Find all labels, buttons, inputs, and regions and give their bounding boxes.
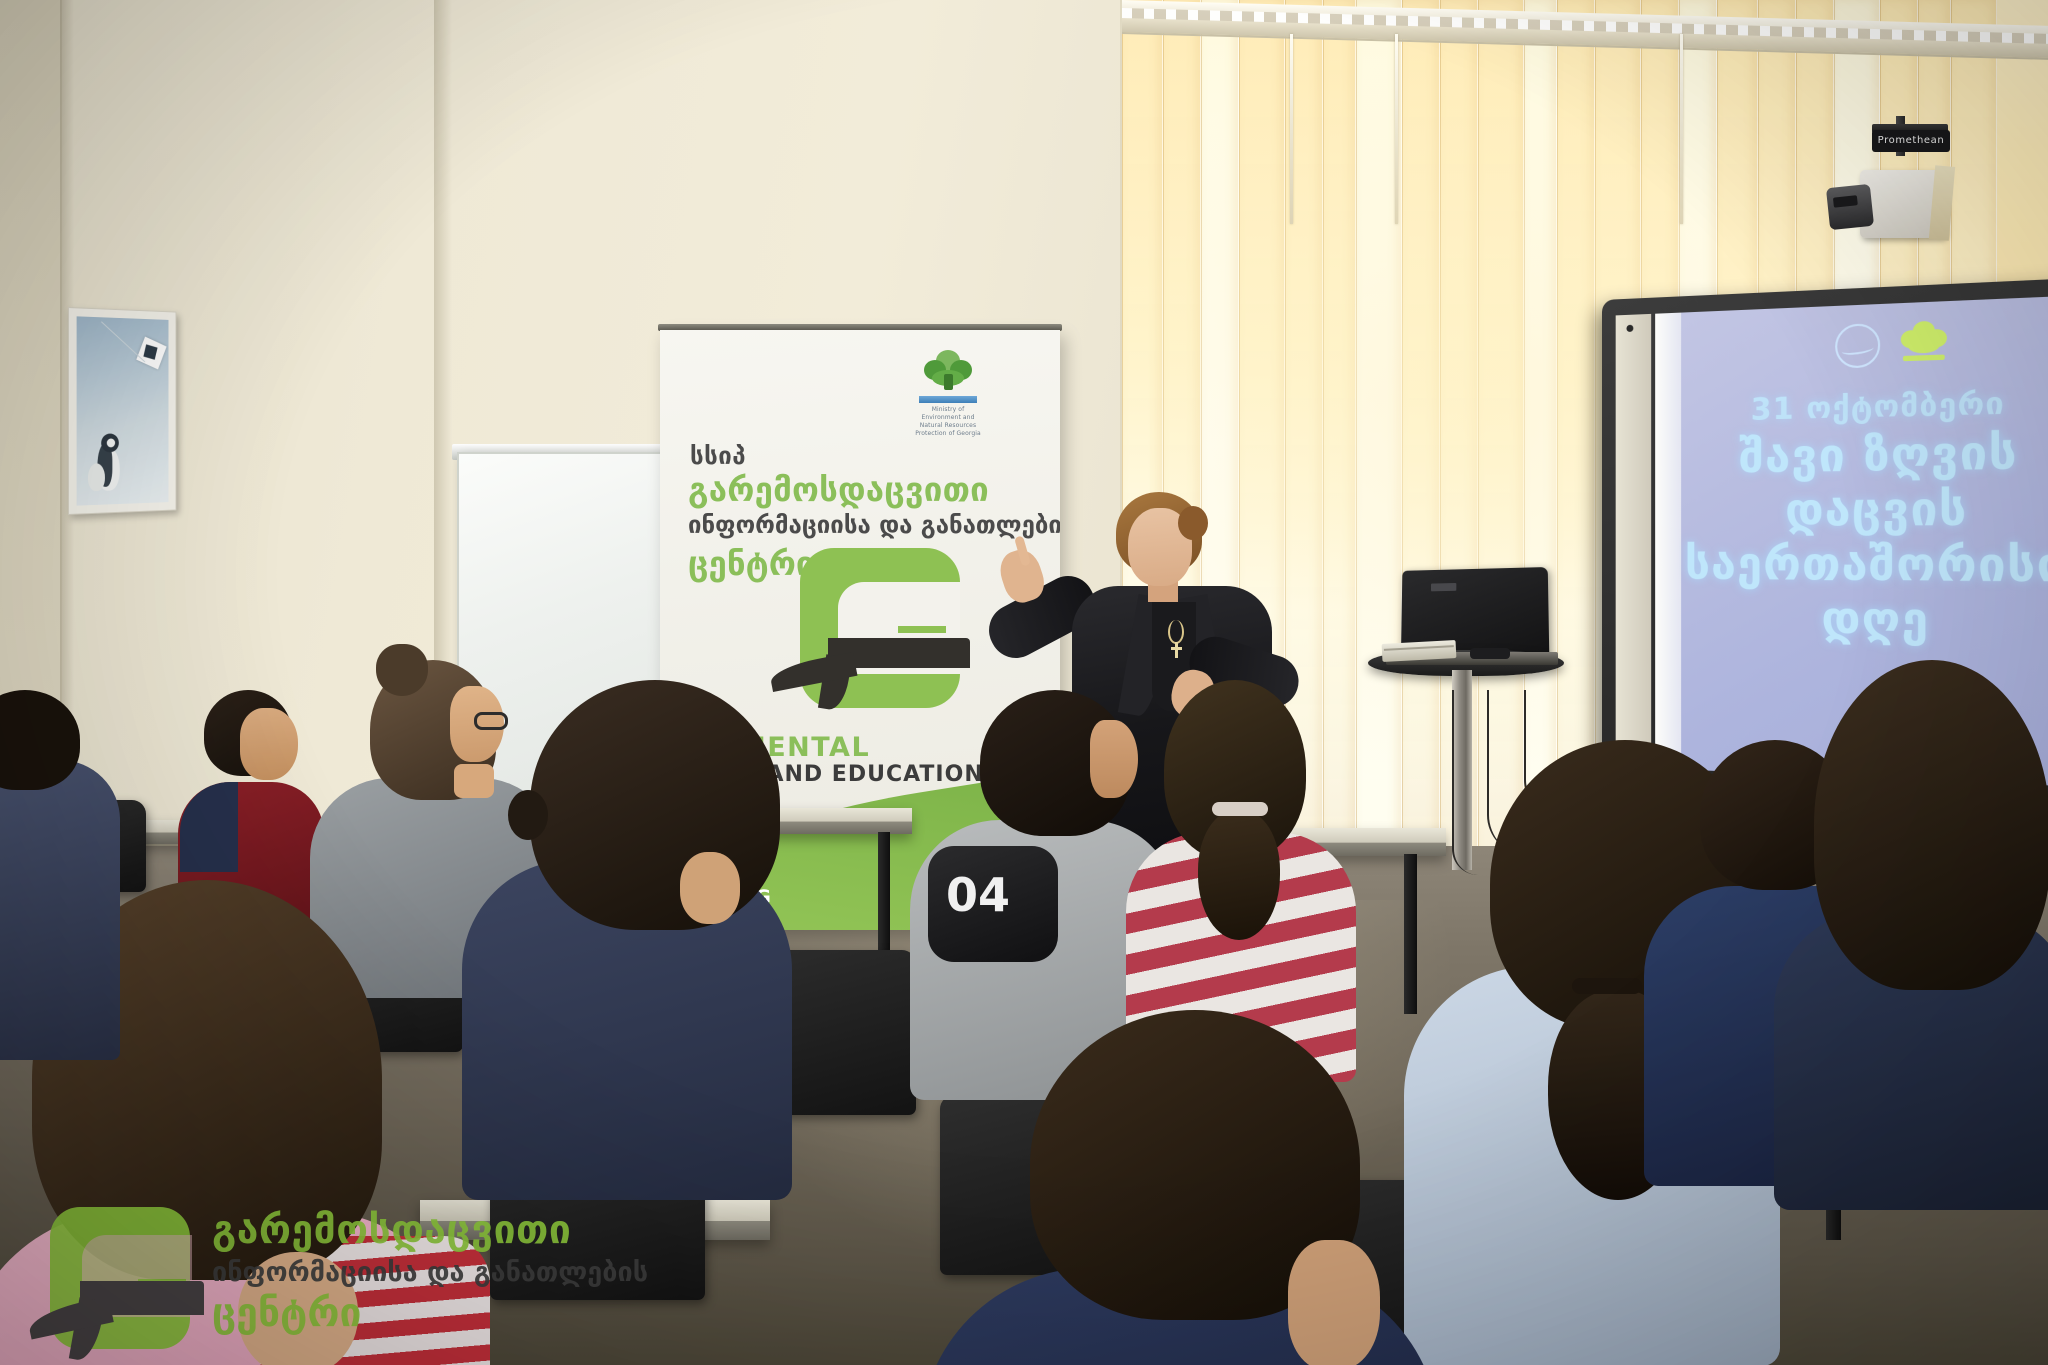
penguin-kite-poster [68, 307, 176, 515]
blind-wand[interactable] [1680, 34, 1683, 224]
blind-wand[interactable] [1290, 34, 1293, 224]
classroom-photo: Ministry of Environment and Natural Reso… [0, 0, 2048, 1365]
ministry-caption: Ministry of Environment and Natural Reso… [913, 406, 983, 438]
poster-image [77, 316, 169, 505]
projector: Promethean [1836, 152, 1956, 248]
projector-brand-label: Promethean [1872, 130, 1950, 152]
ministry-tree-logo: Ministry of Environment and Natural Reso… [913, 350, 983, 428]
slide-text-block: 31 ოქტომბერი შავი ზღვის დაცვის საერთაშორ… [1663, 382, 2048, 652]
hand [454, 764, 494, 798]
banner-line-1: სსიპ [690, 442, 746, 470]
necklace-icon [1168, 620, 1184, 644]
open-book-icon [770, 638, 970, 708]
projector-lens-icon [1826, 184, 1874, 230]
tree-icon [1900, 320, 1948, 366]
penguin-icon [94, 433, 124, 491]
eiec-watermark-icon [50, 1207, 190, 1349]
wall-corner [434, 0, 452, 700]
watermark-line-3: ცენტრი [212, 1294, 648, 1333]
banner-line-3: ინფორმაციისა და განათლების [688, 511, 1060, 539]
slide-line-5: დღე [1663, 591, 2048, 652]
blind-wand[interactable] [1395, 34, 1398, 224]
slide-line-4: საერთაშორისო [1663, 538, 2048, 595]
smartboard-pen-tray[interactable] [1616, 314, 1652, 770]
blind-slat[interactable] [1323, 0, 1356, 960]
shirt-number: 04 [946, 868, 1010, 922]
kite-string [101, 321, 145, 362]
banner-line-2: გარემოსდაცვითი [688, 470, 989, 509]
hair-tie-icon [1572, 978, 1642, 994]
laptop-logo-icon [1431, 583, 1456, 591]
desk-leg [1404, 854, 1417, 1014]
cable [1452, 690, 1478, 875]
slide-line-2: შავი ზღვის [1663, 424, 2048, 485]
watermark-logo: გარემოსდაცვითი ინფორმაციისა და განათლები… [16, 1201, 666, 1351]
open-book-icon [28, 1281, 204, 1359]
eiec-logo-icon [800, 548, 960, 708]
shirt-number-patch: 04 [928, 846, 1058, 962]
cross-pendant-icon [1171, 642, 1182, 658]
glasses-icon [474, 712, 508, 730]
hair-tie-icon [1212, 802, 1268, 816]
wave-circle-icon [1835, 323, 1880, 369]
watermark-line-2: ინფორმაციისა და განათლების [212, 1259, 648, 1286]
watermark-line-1: გარემოსდაცვითი [212, 1211, 648, 1250]
hair-wisp [508, 790, 548, 840]
slide-line-1: 31 ოქტომბერი [1663, 382, 2048, 429]
presenter-hair-bun [1178, 506, 1208, 540]
kite-icon [136, 337, 166, 370]
banner-line-4: ცენტრი [688, 544, 814, 583]
slide-line-3: დაცვის [1663, 481, 2048, 538]
presenter-remote[interactable] [1470, 648, 1510, 659]
hand [680, 852, 740, 924]
blind-slat[interactable] [1402, 0, 1440, 960]
ear-neck [1288, 1240, 1380, 1365]
